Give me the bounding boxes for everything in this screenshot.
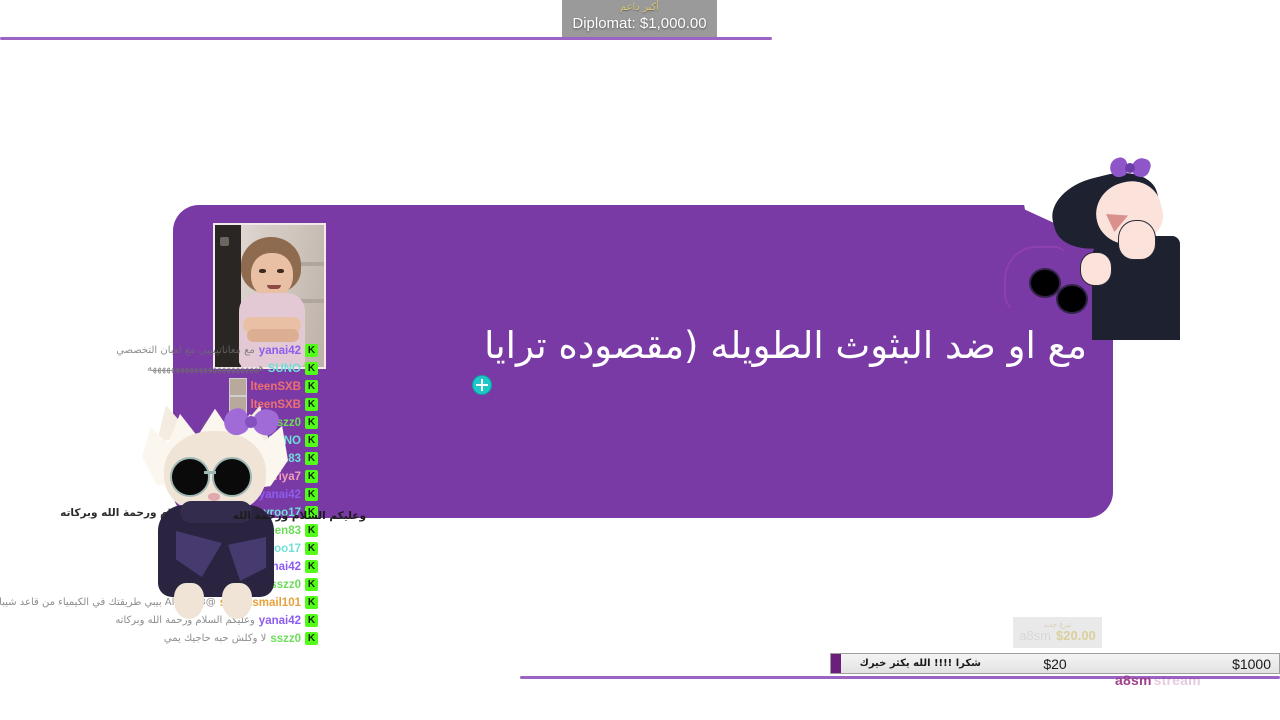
kick-badge-icon: K: [305, 560, 318, 573]
kick-badge-icon: K: [305, 434, 318, 447]
move-crosshair-cursor: [472, 375, 492, 395]
chat-message-text: مع معاناتييييي مع لعبان التخصصي: [0, 345, 255, 356]
kick-badge-icon: K: [305, 596, 318, 609]
chat-message-text: ههههههههههههههههههههههههه: [0, 363, 264, 374]
kick-badge-icon: K: [305, 578, 318, 591]
goal-target-amount: $1000: [1232, 656, 1271, 672]
kick-badge-icon: K: [305, 398, 318, 411]
chat-message-row[interactable]: Ksszz0لا وكلش حبه حاجيك يمي: [0, 631, 320, 646]
top-divider-rule: [0, 37, 772, 40]
chat-username[interactable]: lteenSXB: [251, 381, 302, 393]
donation-alert-label: تبرع جديد: [1044, 622, 1072, 629]
chat-message-row[interactable]: KSUNOههههههههههههههههههههههههه: [0, 361, 320, 376]
cat-purple-bow-icon: [224, 407, 278, 439]
kick-badge-icon: K: [305, 470, 318, 483]
lower-third-headline: مع او ضد البثوث الطويله (مقصوده ترايا مد…: [473, 323, 1087, 369]
top-supporter-banner: أكبر داعم Diplomat: $1,000.00: [562, 0, 717, 38]
kick-badge-icon: K: [305, 632, 318, 645]
donation-goal-bar[interactable]: شكرا !!!! الله يكثر خيرك $20 $1000: [830, 653, 1280, 674]
watermark-name: a8sm: [1115, 672, 1152, 688]
kick-badge-icon: K: [305, 488, 318, 501]
kick-badge-icon: K: [305, 344, 318, 357]
channel-watermark: a8smstream: [1115, 672, 1201, 688]
chat-message-row[interactable]: KlteenSXB: [0, 379, 320, 394]
stream-overlay-stage: أكبر داعم Diplomat: $1,000.00 مع او ضد ا…: [0, 0, 1280, 720]
kick-badge-icon: K: [305, 452, 318, 465]
purple-bow-icon: [1110, 156, 1150, 180]
top-supporter-amount: Diplomat: $1,000.00: [572, 16, 706, 31]
chat-message-row[interactable]: Kyanai42مع معاناتييييي مع لعبان التخصصي: [0, 343, 320, 358]
kick-badge-icon: K: [305, 362, 318, 375]
highlighted-chat-message: وعليكم السلام ورحمة الله: [236, 510, 366, 522]
anime-character-overlay: [1000, 116, 1175, 336]
chat-username[interactable]: sszz0: [270, 633, 301, 645]
donation-alert-donor: a8sm: [1019, 629, 1051, 643]
donation-alert-fading: تبرع جديد a8sm $20.00: [1013, 617, 1102, 648]
chat-username[interactable]: SUNO: [268, 363, 301, 375]
kick-badge-icon: K: [305, 416, 318, 429]
kick-badge-icon: K: [305, 380, 318, 393]
donation-alert-amount: $20.00: [1056, 629, 1096, 643]
kick-badge-icon: K: [305, 524, 318, 537]
top-supporter-label: أكبر داعم: [620, 3, 659, 13]
chat-username[interactable]: yanai42: [259, 345, 301, 357]
goal-current-amount: $20: [831, 656, 1279, 672]
chat-message-text: لا وكلش حبه حاجيك يمي: [0, 633, 266, 644]
kick-badge-icon: K: [305, 614, 318, 627]
chat-emote-thumbnail: [229, 378, 247, 396]
watermark-suffix: stream: [1154, 672, 1201, 688]
kick-badge-icon: K: [305, 542, 318, 555]
